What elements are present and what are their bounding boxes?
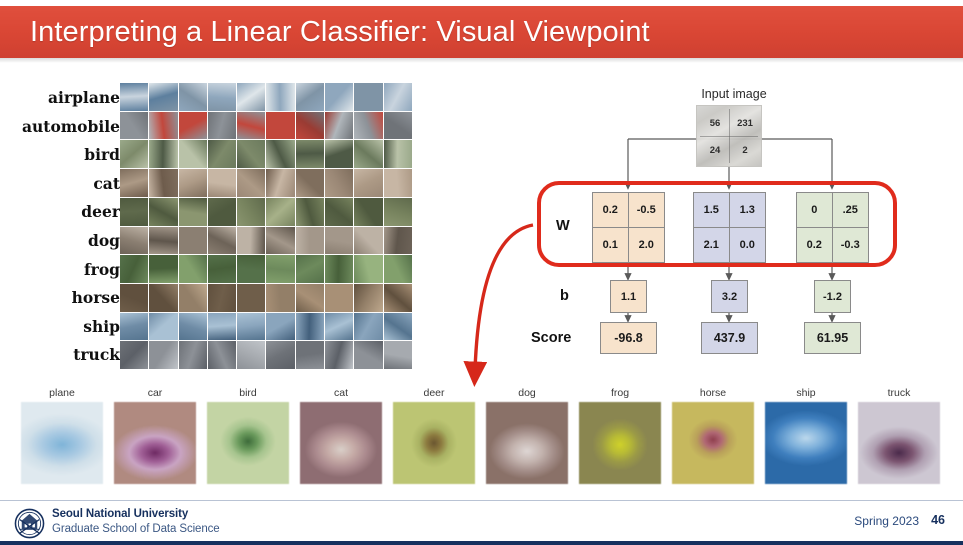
university-crest-icon	[14, 508, 45, 539]
cifar-thumbnail	[384, 169, 412, 197]
cifar-thumbnail	[354, 255, 382, 283]
cifar-thumbnail	[266, 112, 294, 140]
footer-divider	[0, 500, 963, 501]
template-weight-image	[486, 402, 568, 484]
cifar-thumbnail	[237, 284, 265, 312]
cifar-thumbnail	[384, 255, 412, 283]
cifar-thumbnail	[325, 284, 353, 312]
template-weight-image	[393, 402, 475, 484]
cifar-thumbnail	[179, 198, 207, 226]
slide-title-banner: Interpreting a Linear Classifier: Visual…	[0, 6, 963, 58]
cifar-thumbnail	[325, 169, 353, 197]
cifar-thumbnail	[296, 284, 324, 312]
input-pixel-value-1: 231	[732, 118, 758, 129]
cifar-thumbnail	[237, 112, 265, 140]
cifar-thumbnail	[266, 341, 294, 369]
cifar-sample-grid	[120, 83, 412, 369]
footer-bottom-bar	[0, 541, 963, 545]
cifar-thumbnail	[179, 255, 207, 283]
cifar-thumbnail	[208, 284, 236, 312]
class-label-deer: deer	[81, 204, 120, 220]
cifar-thumbnail	[354, 284, 382, 312]
score-box-1: -96.8	[600, 322, 657, 354]
score-row-label: Score	[531, 330, 571, 346]
cifar-thumbnail	[237, 169, 265, 197]
template-item-car: car	[113, 386, 197, 484]
template-label: ship	[764, 386, 848, 401]
class-label-cat: cat	[93, 176, 120, 192]
cifar-thumbnail	[266, 255, 294, 283]
template-label: dog	[485, 386, 569, 401]
cifar-thumbnail	[354, 198, 382, 226]
weight-cell: 2.1	[694, 228, 730, 263]
template-label: plane	[20, 386, 104, 401]
template-item-horse: horse	[671, 386, 755, 484]
weight-cell: 2.0	[629, 228, 665, 263]
cifar-thumbnail	[325, 198, 353, 226]
cifar-thumbnail	[208, 169, 236, 197]
bias-box-3: -1.2	[814, 280, 851, 313]
cifar-thumbnail	[149, 284, 177, 312]
cifar-thumbnail	[120, 227, 148, 255]
weight-cell: -0.5	[629, 193, 665, 228]
cifar-thumbnail	[208, 341, 236, 369]
page-number: 46	[931, 513, 945, 527]
template-weight-image	[114, 402, 196, 484]
cifar-thumbnail	[237, 255, 265, 283]
weight-cell: 0.2	[593, 193, 629, 228]
cifar-thumbnail	[149, 341, 177, 369]
cifar-thumbnail	[266, 83, 294, 111]
cifar-thumbnail	[179, 169, 207, 197]
weight-cell: 0.1	[593, 228, 629, 263]
university-branding: Seoul National University Graduate Schoo…	[52, 507, 220, 537]
template-item-ship: ship	[764, 386, 848, 484]
cifar-thumbnail	[149, 227, 177, 255]
class-label-airplane: airplane	[48, 90, 120, 106]
template-label: truck	[857, 386, 941, 401]
template-label: cat	[299, 386, 383, 401]
class-label-column: airplaneautomobilebirdcatdeerdogfroghors…	[16, 84, 120, 370]
cifar-thumbnail	[266, 198, 294, 226]
cifar-thumbnail	[120, 112, 148, 140]
cifar-thumbnail	[384, 83, 412, 111]
cifar-thumbnail	[325, 83, 353, 111]
cifar-thumbnail	[120, 255, 148, 283]
weight-cell: 0	[797, 193, 833, 228]
template-label: car	[113, 386, 197, 401]
weight-cell: 1.3	[730, 193, 766, 228]
class-label-horse: horse	[72, 290, 120, 306]
cifar-thumbnail	[325, 227, 353, 255]
template-item-plane: plane	[20, 386, 104, 484]
template-item-dog: dog	[485, 386, 569, 484]
cifar-thumbnail	[266, 284, 294, 312]
template-label: frog	[578, 386, 662, 401]
cifar-thumbnail	[149, 313, 177, 341]
input-pixel-value-2: 24	[702, 145, 728, 156]
template-item-cat: cat	[299, 386, 383, 484]
class-label-automobile: automobile	[22, 119, 120, 135]
cifar-thumbnail	[208, 198, 236, 226]
cifar-thumbnail	[237, 140, 265, 168]
cifar-thumbnail	[354, 112, 382, 140]
input-pixel-value-0: 56	[702, 118, 728, 129]
bias-box-2: 3.2	[711, 280, 748, 313]
cifar-thumbnail	[266, 313, 294, 341]
weight-matrix-3: 0.250.2-0.3	[796, 192, 869, 263]
template-label: bird	[206, 386, 290, 401]
cifar-thumbnail	[325, 341, 353, 369]
learned-template-strip: planecarbirdcatdeerdogfroghorseshiptruck	[0, 386, 963, 491]
weight-cell: 0.0	[730, 228, 766, 263]
red-pointer-arrow	[475, 225, 533, 370]
cifar-thumbnail	[179, 341, 207, 369]
cifar-thumbnail	[354, 140, 382, 168]
cifar-thumbnail	[120, 284, 148, 312]
cifar-thumbnail	[179, 83, 207, 111]
weight-matrix-1: 0.2-0.50.12.0	[592, 192, 665, 263]
cifar-thumbnail	[149, 198, 177, 226]
cifar-thumbnail	[325, 313, 353, 341]
template-label: deer	[392, 386, 476, 401]
cifar-thumbnail	[208, 227, 236, 255]
cifar-thumbnail	[354, 169, 382, 197]
class-label-dog: dog	[88, 233, 120, 249]
template-item-bird: bird	[206, 386, 290, 484]
cifar-thumbnail	[120, 83, 148, 111]
cifar-thumbnail	[237, 341, 265, 369]
template-item-frog: frog	[578, 386, 662, 484]
cifar-thumbnail	[237, 313, 265, 341]
cifar-thumbnail	[237, 227, 265, 255]
cifar-thumbnail	[325, 140, 353, 168]
class-label-truck: truck	[73, 347, 120, 363]
weight-cell: 1.5	[694, 193, 730, 228]
class-label-bird: bird	[84, 147, 120, 163]
cifar-thumbnail	[237, 83, 265, 111]
cifar-thumbnail	[384, 313, 412, 341]
class-label-frog: frog	[84, 262, 120, 278]
cifar-thumbnail	[149, 255, 177, 283]
cifar-thumbnail	[149, 169, 177, 197]
template-weight-image	[579, 402, 661, 484]
cifar-thumbnail	[384, 227, 412, 255]
school-name: Graduate School of Data Science	[52, 522, 220, 537]
cifar-thumbnail	[384, 284, 412, 312]
cifar-thumbnail	[296, 313, 324, 341]
cifar-thumbnail	[266, 169, 294, 197]
cifar-thumbnail	[179, 284, 207, 312]
input-grid-hline	[700, 136, 758, 137]
cifar-thumbnail	[296, 83, 324, 111]
cifar-thumbnail	[179, 227, 207, 255]
cifar-thumbnail	[149, 112, 177, 140]
cifar-thumbnail	[179, 140, 207, 168]
cifar-thumbnail	[266, 227, 294, 255]
weight-row-label: W	[556, 218, 570, 234]
cifar-thumbnail	[296, 227, 324, 255]
cifar-thumbnail	[120, 341, 148, 369]
page-title: Interpreting a Linear Classifier: Visual…	[0, 16, 650, 49]
cifar-thumbnail	[208, 313, 236, 341]
input-image-caption: Input image	[684, 87, 784, 101]
weight-matrix-2: 1.51.32.10.0	[693, 192, 766, 263]
cifar-thumbnail	[149, 140, 177, 168]
university-name: Seoul National University	[52, 507, 220, 522]
score-box-3: 61.95	[804, 322, 861, 354]
template-item-deer: deer	[392, 386, 476, 484]
cifar-thumbnail	[120, 140, 148, 168]
bias-row-label: b	[560, 288, 569, 304]
cifar-thumbnail	[354, 227, 382, 255]
cifar-thumbnail	[179, 313, 207, 341]
cifar-thumbnail	[179, 112, 207, 140]
cifar-thumbnail	[354, 313, 382, 341]
cifar-thumbnail	[208, 140, 236, 168]
cifar-thumbnail	[384, 198, 412, 226]
template-weight-image	[858, 402, 940, 484]
weight-cell: 0.2	[797, 228, 833, 263]
cifar-thumbnail	[208, 255, 236, 283]
bias-box-1: 1.1	[610, 280, 647, 313]
cifar-thumbnail	[296, 140, 324, 168]
cifar-thumbnail	[208, 83, 236, 111]
cifar-thumbnail	[384, 140, 412, 168]
cifar-thumbnail	[120, 198, 148, 226]
cifar-thumbnail	[237, 198, 265, 226]
cifar-thumbnail	[325, 255, 353, 283]
class-label-ship: ship	[83, 319, 120, 335]
cifar-thumbnail	[354, 341, 382, 369]
template-weight-image	[21, 402, 103, 484]
cifar-thumbnail	[384, 112, 412, 140]
cifar-thumbnail	[384, 341, 412, 369]
cifar-thumbnail	[354, 83, 382, 111]
cifar-thumbnail	[325, 112, 353, 140]
cifar-thumbnail	[266, 140, 294, 168]
weight-cell: .25	[833, 193, 869, 228]
template-label: horse	[671, 386, 755, 401]
template-weight-image	[207, 402, 289, 484]
cifar-thumbnail	[149, 83, 177, 111]
input-pixel-value-3: 2	[732, 145, 758, 156]
template-item-truck: truck	[857, 386, 941, 484]
template-weight-image	[672, 402, 754, 484]
cifar-thumbnail	[296, 198, 324, 226]
cifar-thumbnail	[296, 255, 324, 283]
cifar-thumbnail	[296, 112, 324, 140]
cifar-thumbnail	[120, 313, 148, 341]
cifar-thumbnail	[296, 169, 324, 197]
score-box-2: 437.9	[701, 322, 758, 354]
input-image-thumbnail: 56 231 24 2	[696, 105, 762, 167]
cifar-thumbnail	[120, 169, 148, 197]
slide: Interpreting a Linear Classifier: Visual…	[0, 0, 963, 545]
weight-cell: -0.3	[833, 228, 869, 263]
cifar-thumbnail	[208, 112, 236, 140]
cifar-thumbnail	[296, 341, 324, 369]
template-weight-image	[765, 402, 847, 484]
term-label: Spring 2023	[854, 514, 919, 528]
template-weight-image	[300, 402, 382, 484]
